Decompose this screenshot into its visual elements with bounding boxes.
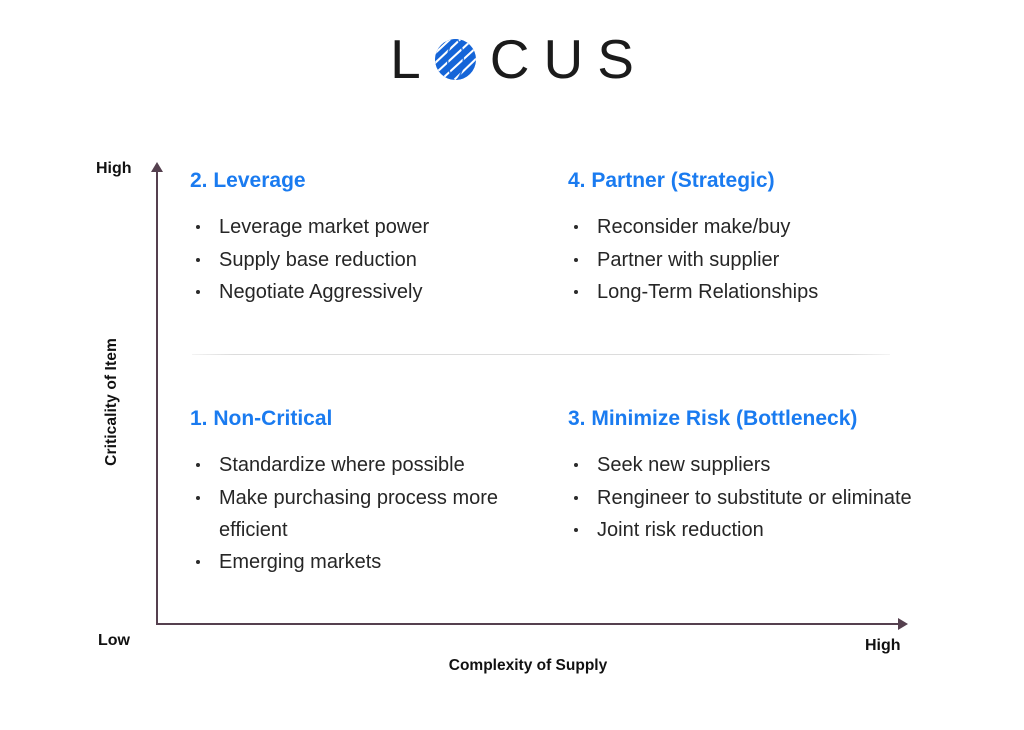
quadrant-title: 3. Minimize Risk (Bottleneck) bbox=[568, 406, 938, 431]
y-axis-low-label: Low bbox=[98, 632, 130, 650]
quadrant-title: 1. Non-Critical bbox=[190, 406, 550, 431]
quadrant-bullet-list: Seek new suppliers Rengineer to substitu… bbox=[568, 449, 938, 546]
list-item: Standardize where possible bbox=[190, 449, 550, 481]
list-item: Leverage market power bbox=[190, 211, 540, 243]
quadrant-bullet-list: Standardize where possible Make purchasi… bbox=[190, 449, 550, 579]
y-axis-high-label: High bbox=[96, 160, 132, 178]
quadrant-title: 2. Leverage bbox=[190, 168, 540, 193]
list-item: Joint risk reduction bbox=[568, 514, 938, 546]
quadrant-leverage: 2. Leverage Leverage market power Supply… bbox=[190, 168, 540, 308]
quadrant-partner-strategic: 4. Partner (Strategic) Reconsider make/b… bbox=[568, 168, 938, 308]
y-axis-arrowhead-icon bbox=[151, 162, 163, 172]
x-axis-title: Complexity of Supply bbox=[328, 657, 728, 675]
x-axis-arrowhead-icon bbox=[898, 618, 908, 630]
list-item: Emerging markets bbox=[190, 546, 550, 578]
quadrant-bullet-list: Leverage market power Supply base reduct… bbox=[190, 211, 540, 308]
list-item: Rengineer to substitute or eliminate bbox=[568, 482, 938, 514]
quadrant-bullet-list: Reconsider make/buy Partner with supplie… bbox=[568, 211, 938, 308]
list-item: Make purchasing process more efficient bbox=[190, 482, 550, 547]
quadrant-non-critical: 1. Non-Critical Standardize where possib… bbox=[190, 406, 550, 579]
list-item: Long-Term Relationships bbox=[568, 276, 938, 308]
y-axis-title: Criticality of Item bbox=[103, 287, 121, 517]
quadrant-title: 4. Partner (Strategic) bbox=[568, 168, 938, 193]
list-item: Seek new suppliers bbox=[568, 449, 938, 481]
list-item: Negotiate Aggressively bbox=[190, 276, 540, 308]
x-axis-high-label: High bbox=[865, 637, 901, 655]
y-axis-line bbox=[156, 170, 158, 625]
quadrant-divider bbox=[192, 354, 890, 355]
list-item: Reconsider make/buy bbox=[568, 211, 938, 243]
list-item: Partner with supplier bbox=[568, 244, 938, 276]
x-axis-line bbox=[156, 623, 900, 625]
purchasing-portfolio-matrix: High Low High Criticality of Item Comple… bbox=[0, 0, 1024, 730]
list-item: Supply base reduction bbox=[190, 244, 540, 276]
quadrant-minimize-risk: 3. Minimize Risk (Bottleneck) Seek new s… bbox=[568, 406, 938, 546]
